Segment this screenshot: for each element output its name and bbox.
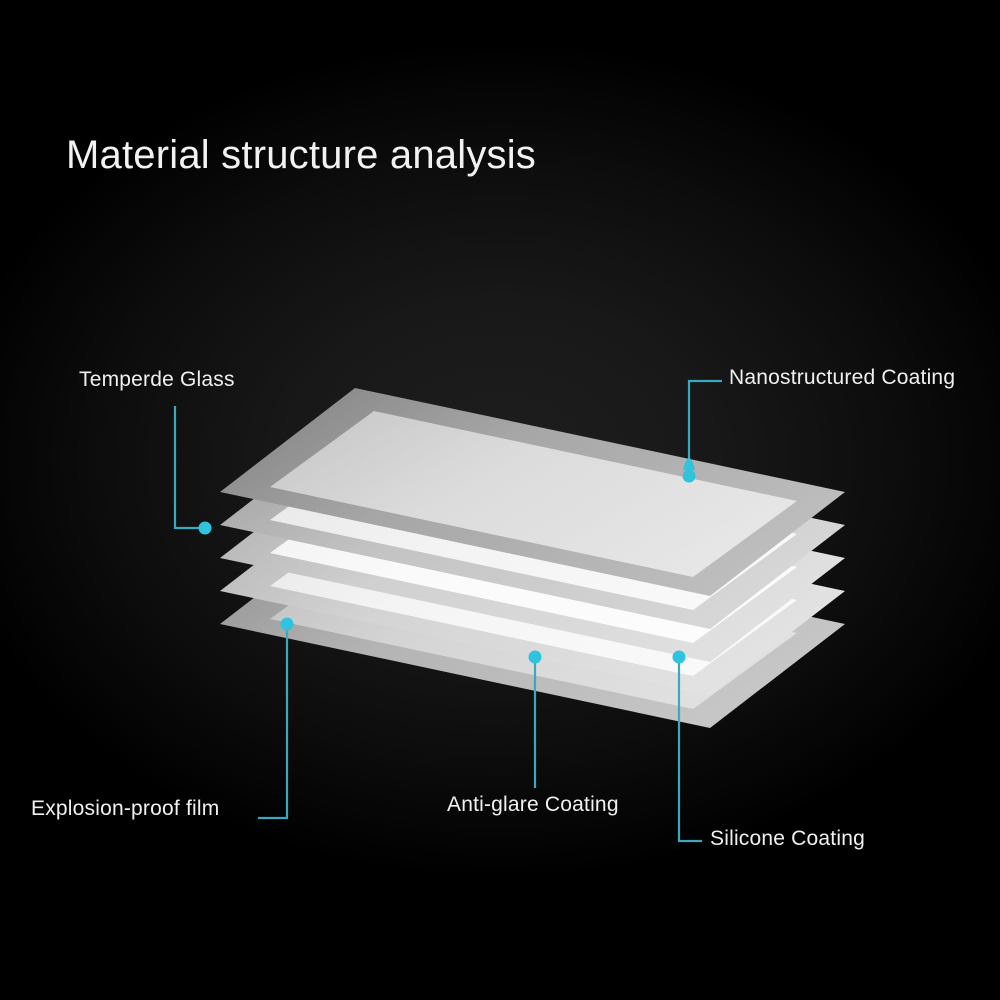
callout-leader-explosion-proof-film [258, 618, 294, 819]
callout-label-explosion-proof-film: Explosion-proof film [31, 797, 219, 821]
callout-leader-tempered-glass [175, 406, 212, 535]
callout-label-anti-glare-coating: Anti-glare Coating [447, 793, 619, 817]
callout-label-silicone-coating: Silicone Coating [710, 827, 865, 851]
callout-label-nanostructured-coating: Nanostructured Coating [729, 366, 955, 390]
callout-label-tempered-glass: Temperde Glass [79, 368, 235, 392]
page-title: Material structure analysis [66, 133, 536, 178]
material-structure-diagram-page: Material structure analysis Temperde Gla… [0, 0, 1000, 1000]
